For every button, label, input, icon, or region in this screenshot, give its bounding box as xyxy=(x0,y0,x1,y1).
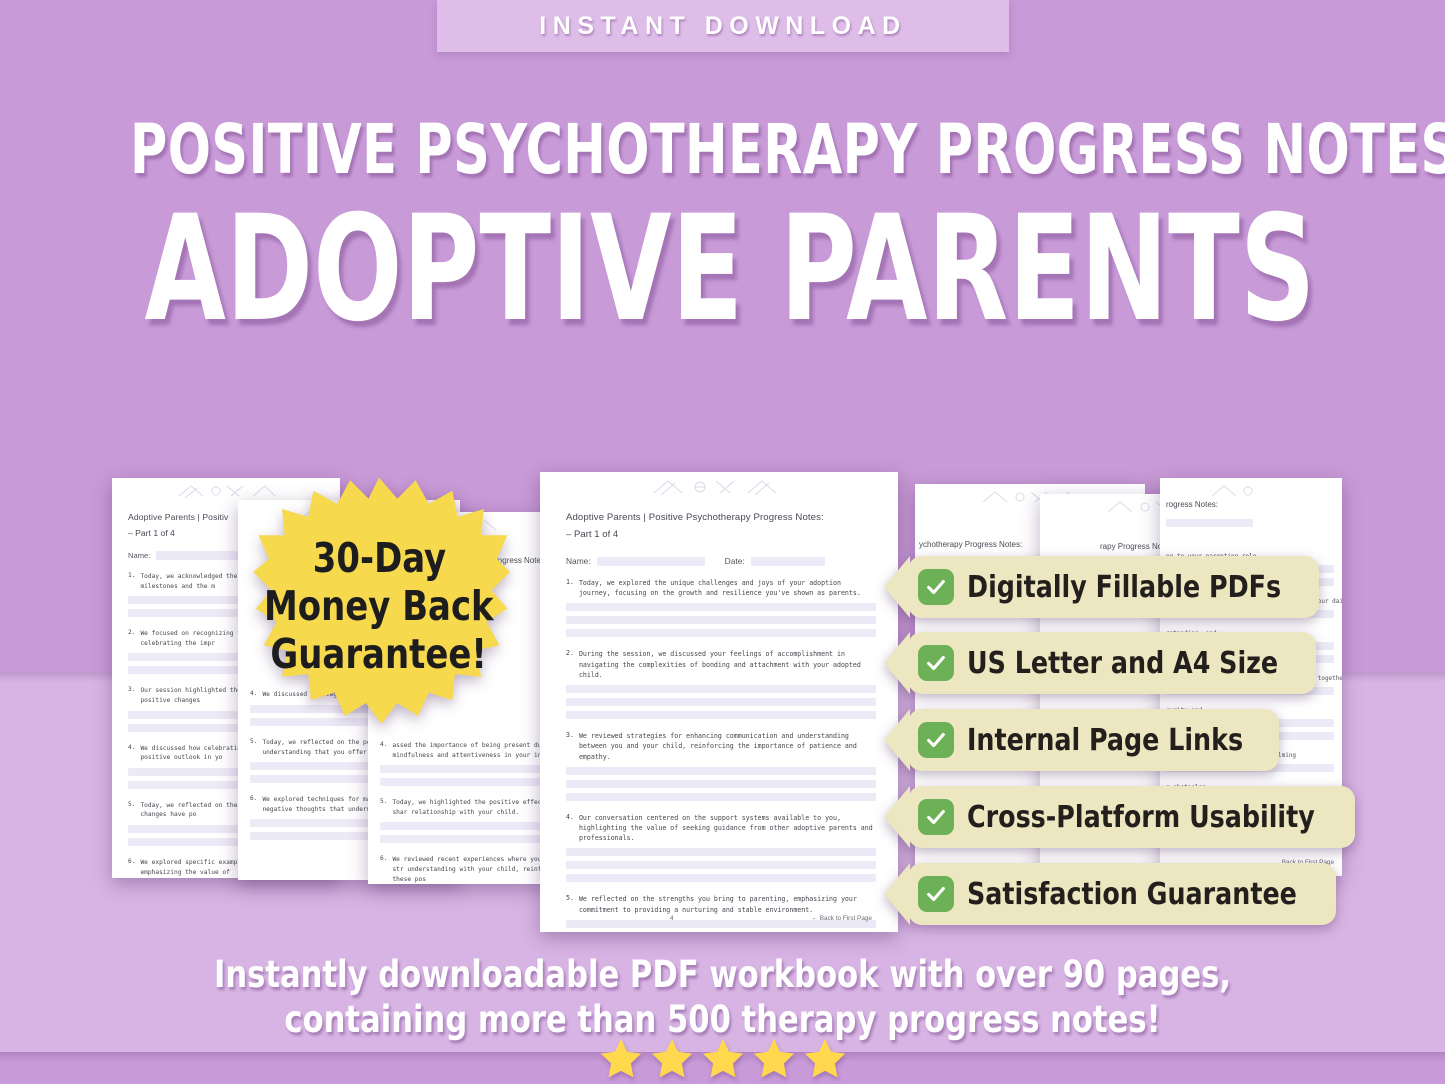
check-icon xyxy=(918,722,954,758)
feature-label: Digitally Fillable PDFs xyxy=(967,570,1281,605)
feature-callout-cross-platform-usability[interactable]: Cross-Platform Usability xyxy=(884,786,1355,848)
feature-callout-digitally-fillable-pdfs[interactable]: Digitally Fillable PDFs xyxy=(884,556,1319,618)
date-label: Date: xyxy=(725,556,745,566)
instant-download-banner: INSTANT DOWNLOAD xyxy=(437,0,1009,52)
star-icon xyxy=(700,1036,746,1080)
feature-callout-satisfaction-guarantee[interactable]: Satisfaction Guarantee xyxy=(884,863,1336,925)
write-line[interactable] xyxy=(566,848,876,856)
write-line[interactable] xyxy=(566,861,876,869)
callout-arrow-icon xyxy=(884,786,910,848)
callout-arrow-icon xyxy=(884,632,910,694)
item-text: We reflected on the strengths you bring … xyxy=(579,894,876,914)
feature-label: Cross-Platform Usability xyxy=(967,800,1315,835)
page-title: Adoptive Parents | Positive Psychotherap… xyxy=(566,512,876,523)
badge-line-1: 30-Day xyxy=(312,538,445,579)
write-line[interactable] xyxy=(1166,519,1253,527)
item-text: We reviewed strategies for enhancing com… xyxy=(579,731,876,762)
money-back-guarantee-badge: 30-Day Money Back Guarantee! xyxy=(248,462,510,750)
instant-download-label: INSTANT DOWNLOAD xyxy=(539,12,906,41)
feature-label: Satisfaction Guarantee xyxy=(967,877,1297,912)
feature-label: US Letter and A4 Size xyxy=(967,646,1278,681)
write-line[interactable] xyxy=(566,780,876,788)
badge-line-3: Guarantee! xyxy=(271,634,487,675)
headline-line-2: ADOPTIVE PARENTS xyxy=(145,200,1301,339)
feature-label: Internal Page Links xyxy=(967,723,1243,758)
tagline-block: Instantly downloadable PDF workbook with… xyxy=(0,952,1445,1042)
back-to-first-page-link[interactable]: ← Back to First Page xyxy=(812,915,872,922)
page-title-fragment: rogress Notes: xyxy=(1166,500,1334,509)
callout-arrow-icon xyxy=(884,709,910,771)
item-text: Today, we explored the unique challenges… xyxy=(579,578,876,598)
write-line[interactable] xyxy=(566,711,876,719)
document-page-main: Adoptive Parents | Positive Psychotherap… xyxy=(540,472,898,932)
check-icon xyxy=(918,799,954,835)
badge-line-2: Money Back xyxy=(264,586,494,627)
star-icon xyxy=(598,1036,644,1080)
name-label: Name: xyxy=(128,551,150,560)
tagline-line-1: Instantly downloadable PDF workbook with… xyxy=(58,952,1387,997)
star-icon xyxy=(649,1036,695,1080)
list-item: 1.Today, we explored the unique challeng… xyxy=(566,578,876,598)
badge-text-block: 30-Day Money Back Guarantee! xyxy=(248,462,510,750)
name-field[interactable] xyxy=(597,557,705,566)
list-item: 3.We reviewed strategies for enhancing c… xyxy=(566,731,876,762)
headline-block: POSITIVE PSYCHOTHERAPY PROGRESS NOTES FO… xyxy=(0,118,1445,338)
callout-arrow-icon xyxy=(884,556,910,618)
write-line[interactable] xyxy=(566,698,876,706)
write-line[interactable] xyxy=(566,874,876,882)
write-line[interactable] xyxy=(566,767,876,775)
list-item: 4.Our conversation centered on the suppo… xyxy=(566,813,876,844)
write-line[interactable] xyxy=(566,616,876,624)
item-text: During the session, we discussed your fe… xyxy=(579,649,876,680)
write-line[interactable] xyxy=(566,793,876,801)
feature-callout-internal-page-links[interactable]: Internal Page Links xyxy=(884,709,1279,771)
document-items-list: 1.Today, we explored the unique challeng… xyxy=(566,578,876,932)
date-field[interactable] xyxy=(751,557,825,566)
check-icon xyxy=(918,876,954,912)
write-line[interactable] xyxy=(566,685,876,693)
write-line[interactable] xyxy=(566,603,876,611)
page-number: 4 xyxy=(670,915,674,922)
star-icon xyxy=(751,1036,797,1080)
marketing-graphic: INSTANT DOWNLOAD POSITIVE PSYCHOTHERAPY … xyxy=(0,0,1445,1084)
write-line[interactable] xyxy=(566,629,876,637)
feature-callout-us-letter-and-a4-size[interactable]: US Letter and A4 Size xyxy=(884,632,1316,694)
list-item: 2.During the session, we discussed your … xyxy=(566,649,876,680)
check-icon xyxy=(918,569,954,605)
list-item: 5.We reflected on the strengths you brin… xyxy=(566,894,876,914)
check-icon xyxy=(918,645,954,681)
name-date-row: Name: Date: xyxy=(566,556,876,566)
page-footer: 4 ← Back to First Page xyxy=(540,915,898,922)
page-subtitle: – Part 1 of 4 xyxy=(566,529,876,540)
star-rating xyxy=(0,1036,1445,1080)
callout-arrow-icon xyxy=(884,863,910,925)
name-label: Name: xyxy=(566,556,591,566)
item-text: Our conversation centered on the support… xyxy=(579,813,876,844)
star-icon xyxy=(802,1036,848,1080)
headline-line-1: POSITIVE PSYCHOTHERAPY PROGRESS NOTES FO… xyxy=(130,118,1315,184)
